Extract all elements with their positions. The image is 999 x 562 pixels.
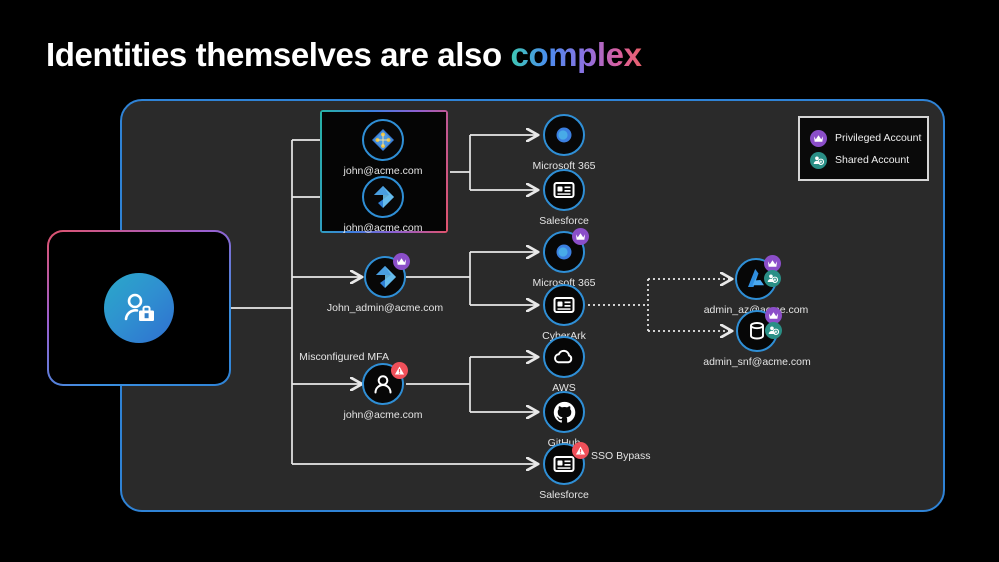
legend-item-shared: Shared Account (810, 149, 917, 171)
shared-account-icon (765, 322, 782, 339)
legend: Privileged Account Shared Account (798, 116, 929, 181)
microsoft365-icon (543, 114, 585, 156)
identity-label: john@acme.com (344, 222, 423, 234)
warning-icon (572, 442, 589, 459)
shared-account-icon (810, 152, 827, 169)
page-title-lead: Identities themselves are also (46, 36, 511, 73)
aws-icon (543, 336, 585, 378)
active-directory-icon (362, 119, 404, 161)
crown-icon (810, 130, 827, 147)
warning-label-mfa: Misconfigured MFA (299, 351, 389, 364)
warning-label-sso: SSO Bypass (591, 450, 651, 463)
user-briefcase-icon (104, 273, 174, 343)
app-label: Salesforce (539, 489, 589, 501)
crown-icon (572, 228, 589, 245)
app-label: Salesforce (539, 215, 589, 227)
legend-item-privileged: Privileged Account (810, 127, 917, 149)
crown-icon (393, 253, 410, 270)
identity-label: John_admin@acme.com (327, 302, 443, 314)
warning-icon (391, 362, 408, 379)
cyberark-icon (543, 284, 585, 326)
identity-label: john@acme.com (344, 409, 423, 421)
github-icon (543, 391, 585, 433)
salesforce-icon (543, 169, 585, 211)
slide-canvas: Identities themselves are also complex (0, 0, 999, 562)
page-title-accent: complex (511, 36, 642, 73)
shared-account-icon (764, 270, 781, 287)
legend-label: Privileged Account (835, 132, 921, 144)
admin-label: admin_snf@acme.com (703, 356, 811, 368)
page-title: Identities themselves are also complex (46, 36, 642, 74)
identity-source-box[interactable] (47, 230, 231, 386)
azure-ad-icon (362, 176, 404, 218)
legend-label: Shared Account (835, 154, 909, 166)
